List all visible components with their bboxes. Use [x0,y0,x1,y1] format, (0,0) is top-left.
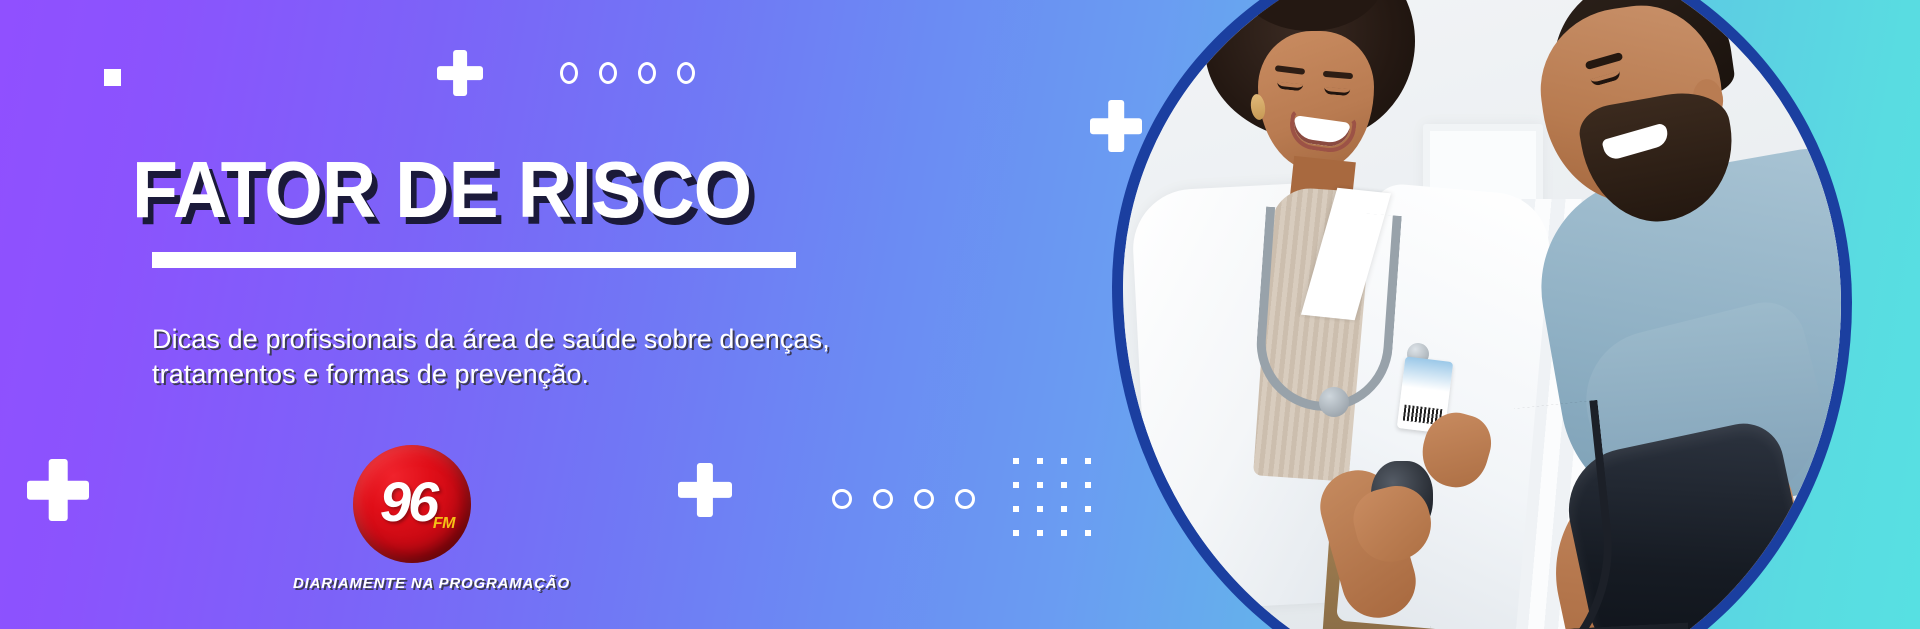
logo-number: 96 [380,474,436,530]
stethoscope-bell [1319,387,1349,417]
risk-factor-banner: FATOR DE RISCO Dicas de profissionais da… [0,0,1920,629]
radio-logo: 96 FM DIARIAMENTE NA PROGRAMAÇÃO [353,445,471,592]
banner-subtitle: Dicas de profissionais da área de saúde … [152,322,852,391]
photo-blob-frame [1112,0,1852,629]
page-title: FATOR DE RISCO [132,150,751,230]
banner-content: FATOR DE RISCO Dicas de profissionais da… [0,0,1100,629]
logo-disc: 96 FM [353,445,471,563]
logo-tagline: DIARIAMENTE NA PROGRAMAÇÃO [293,575,411,592]
doctor-patient-photo [1123,0,1841,629]
logo-fm-label: FM [433,515,455,533]
title-underline [152,252,796,268]
